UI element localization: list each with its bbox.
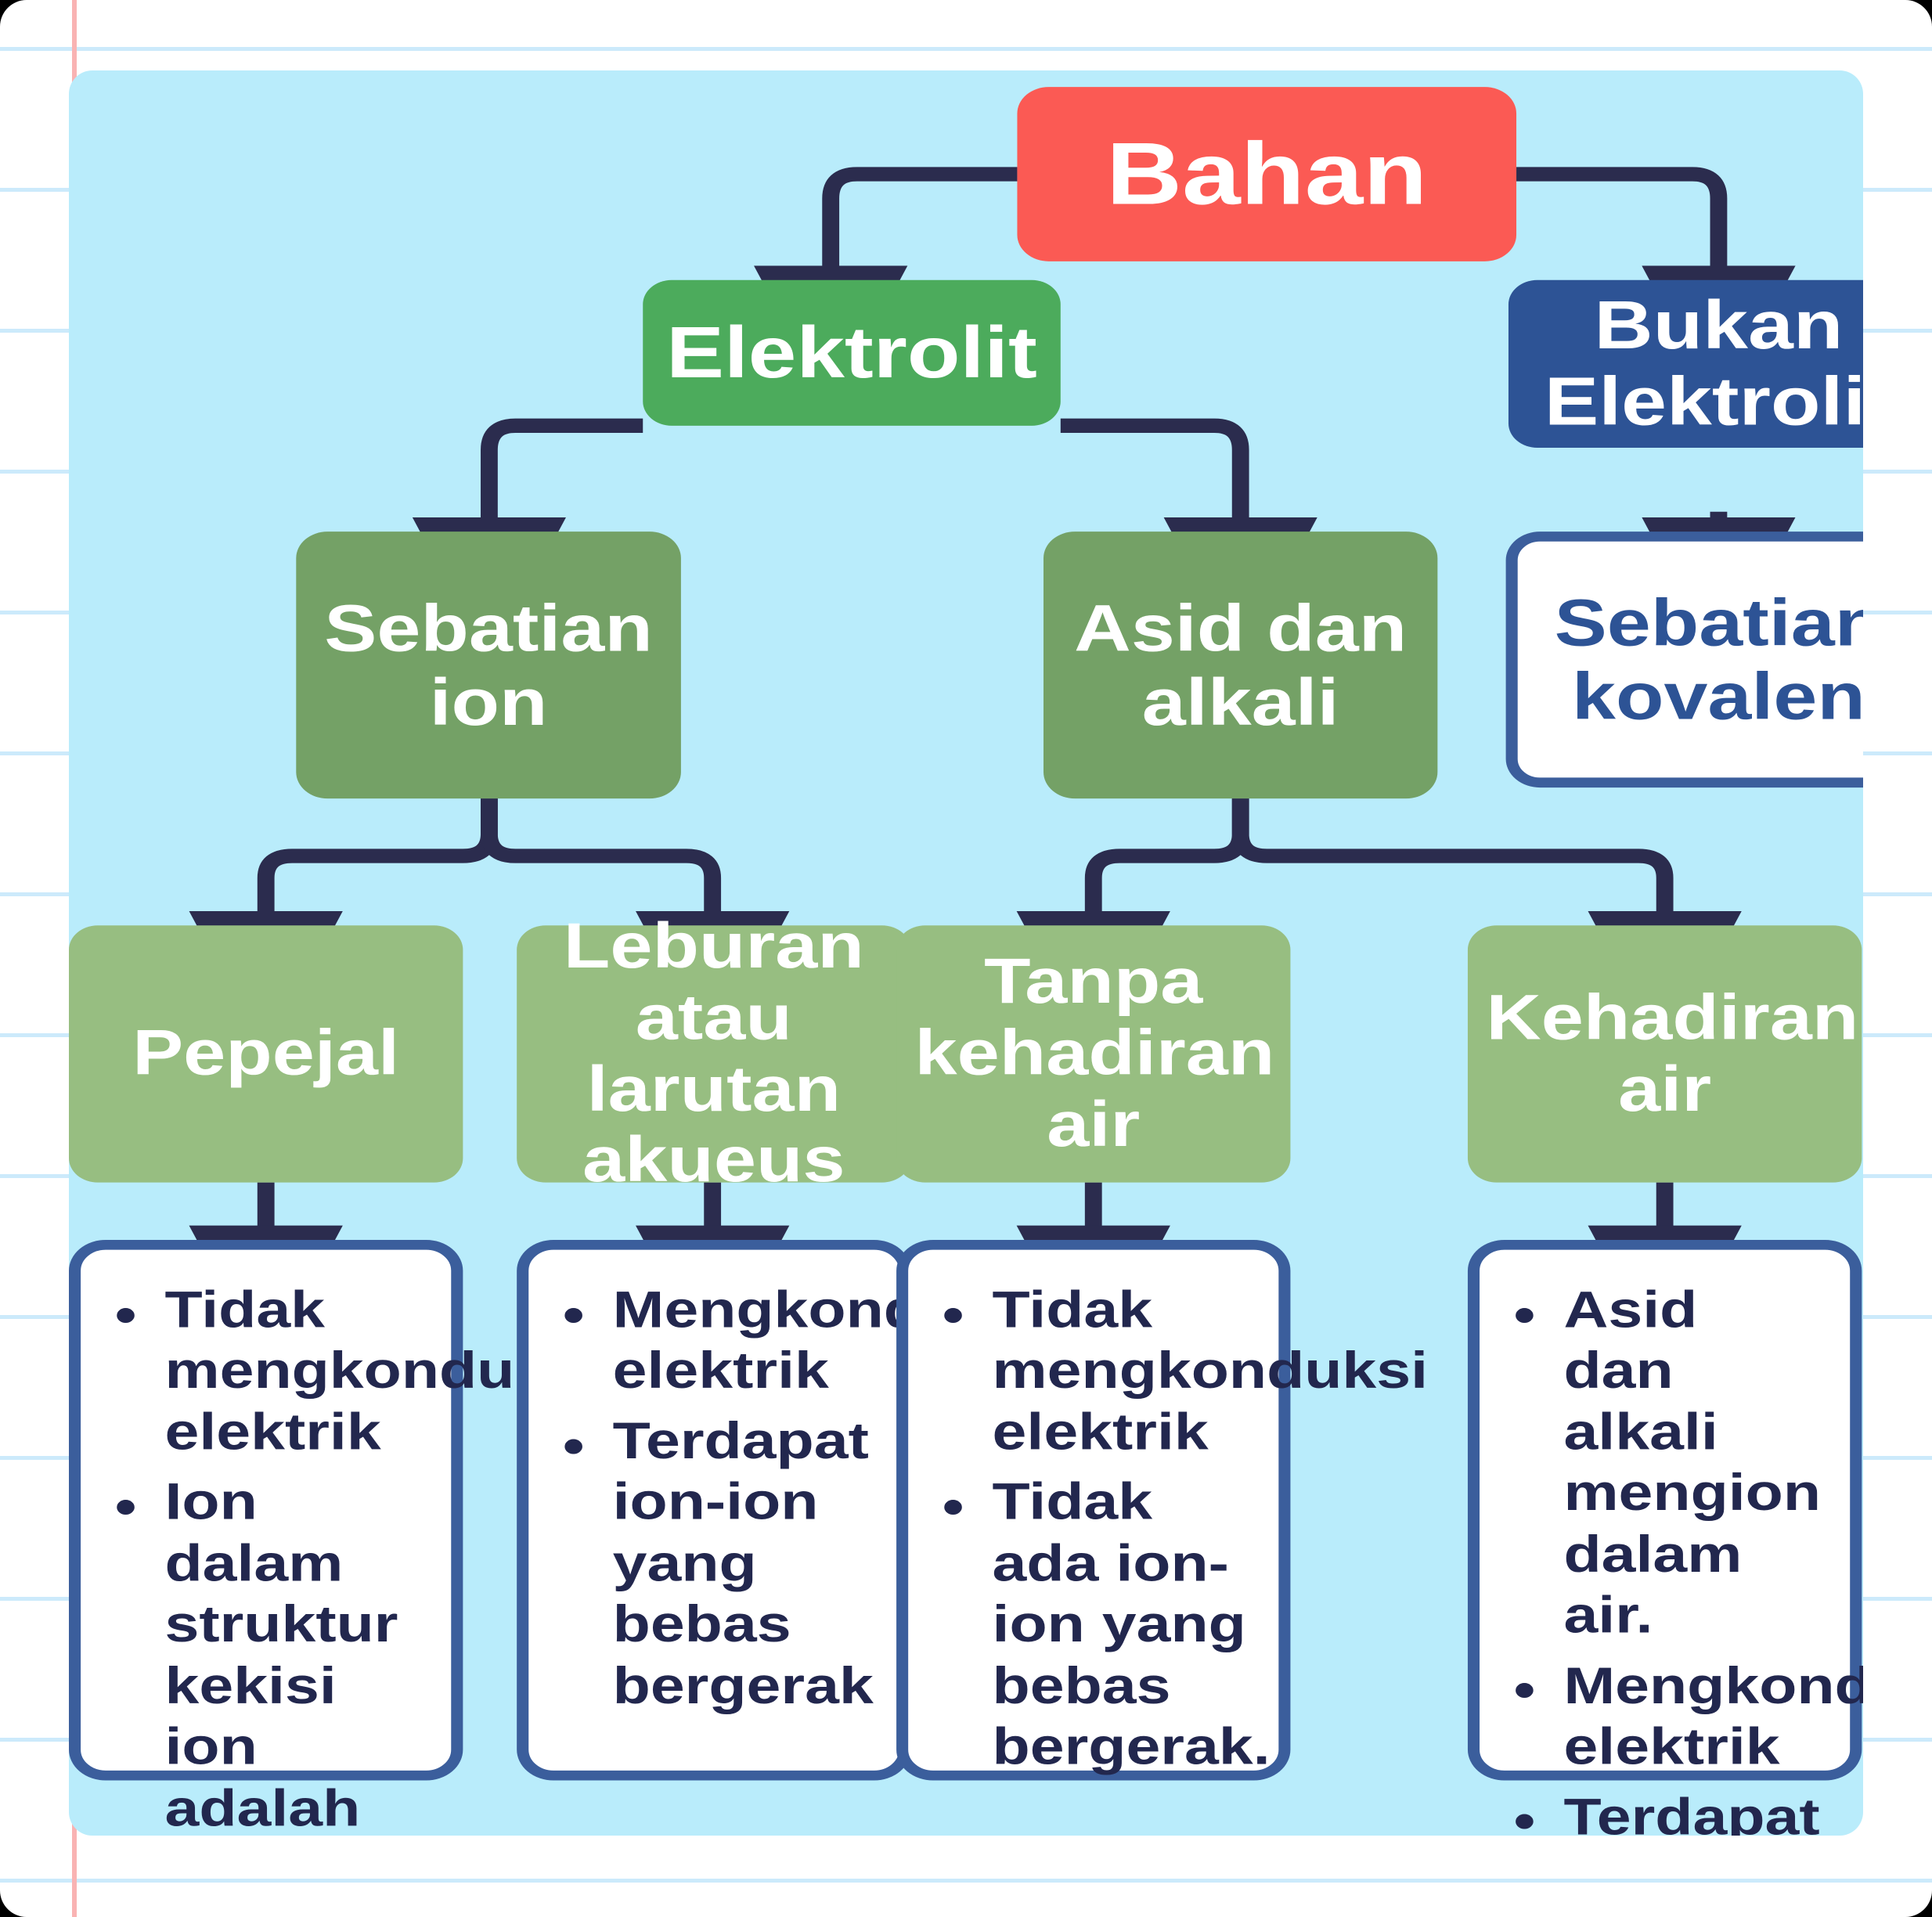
node-asid-dan-alkali-label-line1: Asid dan: [1062, 591, 1418, 665]
bullet-list: •Tidak mengkonduksi elektrik •Ion dalam …: [104, 1278, 422, 1836]
list-item: •Terdapat ion-ion yang bebas bergerak: [613, 1410, 870, 1716]
node-leburan-label-line1: Leburan: [535, 910, 892, 982]
list-item: •Asid dan alkali mengion dalam air.: [1563, 1278, 1821, 1645]
node-bahan-label: Bahan: [1036, 124, 1498, 223]
node-sebatian-kovalen-label-line1: Sebatian: [1536, 586, 1863, 660]
list-item: •Terdapat ion-ion yang bebas bergerak: [1563, 1785, 1821, 1836]
list-item: •Ion dalam struktur kekisi ion adalah ti…: [164, 1471, 422, 1836]
list-item-text: Terdapat ion-ion yang bebas bergerak: [1563, 1786, 1824, 1836]
bullet-list: •Mengkonduksi elektrik •Terdapat ion-ion…: [552, 1278, 870, 1715]
list-item: •Mengkonduksi elektrik: [1563, 1654, 1821, 1776]
bullet-list: •Tidak mengkonduksi elektrik •Tidak ada …: [932, 1278, 1249, 1777]
list-item: •Tidak mengkonduksi elektrik: [164, 1278, 422, 1461]
node-bukan-elektrolit[interactable]: Bukan Elektrolit: [1508, 280, 1863, 448]
list-item-text: Ion dalam struktur kekisi ion adalah tid…: [164, 1472, 425, 1836]
diagram-card: Bahan Elektrolit Bukan Elektrolit Sebati…: [69, 70, 1863, 1836]
bullet-icon: •: [115, 1284, 137, 1345]
node-pepejal-label-line1: Pepejal: [87, 1018, 444, 1090]
bullet-icon: •: [1514, 1791, 1536, 1836]
node-bukan-elektrolit-label-line1: Bukan: [1526, 287, 1863, 364]
list-item-text: Tidak ada ion-ion yang bebas bergerak.: [993, 1472, 1271, 1775]
node-sebatian-ion-label-line1: Sebatian: [315, 591, 663, 665]
rule-line: [0, 47, 1932, 51]
bullet-icon: •: [115, 1476, 137, 1537]
rule-line: [0, 1879, 1932, 1883]
node-pepejal[interactable]: Pepejal: [69, 925, 463, 1182]
bullet-icon: •: [563, 1414, 585, 1476]
detail-card-pepejal[interactable]: •Tidak mengkonduksi elektrik •Ion dalam …: [69, 1240, 463, 1781]
node-asid-dan-alkali[interactable]: Asid dan alkali: [1043, 531, 1437, 798]
node-bukan-elektrolit-label-line2: Elektrolit: [1526, 364, 1863, 441]
list-item: •Tidak ada ion-ion yang bebas bergerak.: [993, 1471, 1250, 1777]
node-tanpa-air-label-line1: Tanpa: [915, 946, 1272, 1018]
bullet-list: •Asid dan alkali mengion dalam air. •Men…: [1503, 1278, 1821, 1836]
node-elektrolit[interactable]: Elektrolit: [643, 280, 1061, 426]
node-sebatian-ion[interactable]: Sebatian ion: [296, 531, 681, 798]
node-leburan-label-line3: akueus: [535, 1126, 892, 1198]
list-item-text: Tidak mengkonduksi elektrik: [993, 1280, 1429, 1461]
list-item-text: Mengkonduksi elektrik: [1563, 1656, 1863, 1775]
detail-card-kehadiran-air[interactable]: •Asid dan alkali mengion dalam air. •Men…: [1468, 1240, 1862, 1781]
list-item-text: Asid dan alkali mengion dalam air.: [1563, 1280, 1821, 1644]
bullet-icon: •: [1514, 1284, 1536, 1345]
node-asid-dan-alkali-label-line2: alkali: [1062, 665, 1418, 740]
list-item: •Tidak mengkonduksi elektrik: [993, 1278, 1250, 1461]
node-sebatian-ion-label-line2: ion: [315, 665, 663, 740]
bullet-icon: •: [563, 1284, 585, 1345]
node-kehadiran-air[interactable]: Kehadiran air: [1468, 925, 1862, 1182]
node-bahan[interactable]: Bahan: [1017, 87, 1516, 261]
node-tanpa-kehadiran-air[interactable]: Tanpa kehadiran air: [896, 925, 1290, 1182]
list-item-text: Terdapat ion-ion yang bebas bergerak: [613, 1411, 874, 1713]
bullet-icon: •: [943, 1284, 964, 1345]
list-item: •Mengkonduksi elektrik: [613, 1278, 870, 1400]
node-kehadiran-air-label-line1: Kehadiran: [1486, 982, 1843, 1054]
bullet-icon: •: [1514, 1659, 1536, 1721]
bullet-icon: •: [943, 1476, 964, 1537]
node-sebatian-kovalen-label-line2: kovalen: [1536, 660, 1863, 734]
node-leburan-label-line2: atau larutan: [535, 982, 892, 1126]
node-tanpa-air-label-line2: kehadiran: [915, 1018, 1272, 1090]
notebook-paper: Bahan Elektrolit Bukan Elektrolit Sebati…: [0, 0, 1932, 1917]
node-tanpa-air-label-line3: air: [915, 1090, 1272, 1162]
node-elektrolit-label: Elektrolit: [661, 312, 1043, 394]
detail-card-leburan[interactable]: •Mengkonduksi elektrik •Terdapat ion-ion…: [517, 1240, 910, 1781]
node-leburan-atau-larutan-akueus[interactable]: Leburan atau larutan akueus: [517, 925, 910, 1182]
node-kehadiran-air-label-line2: air: [1486, 1054, 1843, 1126]
node-sebatian-kovalen[interactable]: Sebatian kovalen: [1506, 531, 1863, 787]
detail-card-tanpa-air[interactable]: •Tidak mengkonduksi elektrik •Tidak ada …: [896, 1240, 1290, 1781]
